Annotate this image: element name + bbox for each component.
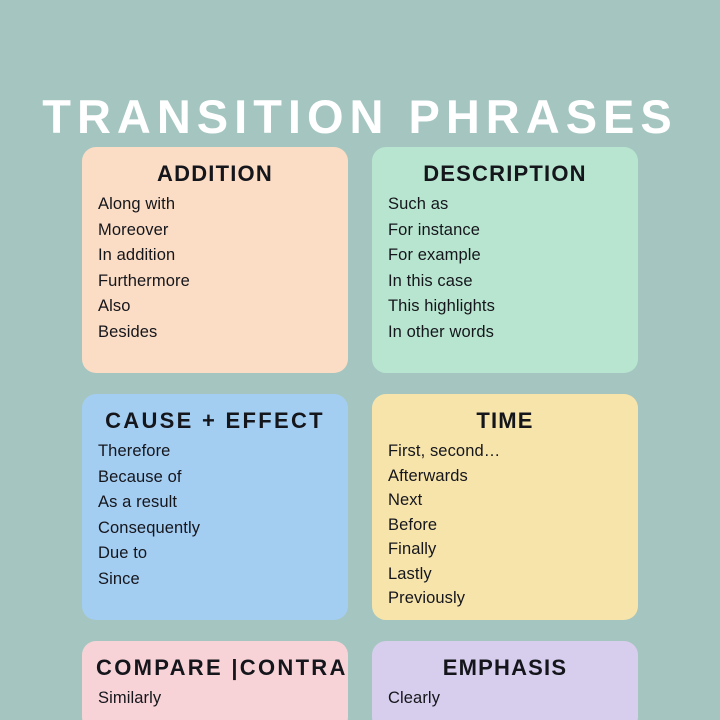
- list-item: Besides: [98, 320, 334, 346]
- list-item: Also: [98, 294, 334, 320]
- list-item: This highlights: [388, 294, 624, 320]
- list-item: In other words: [388, 320, 624, 346]
- list-item: Since: [98, 567, 334, 593]
- list-item: Lastly: [388, 562, 624, 587]
- list-item: Similarly: [98, 686, 334, 712]
- list-item: Due to: [98, 541, 334, 567]
- list-item: Afterwards: [388, 464, 624, 489]
- card-addition: ADDITION Along with Moreover In addition…: [82, 147, 348, 373]
- card-emphasis-title: EMPHASIS: [372, 655, 638, 680]
- card-time: TIME First, second… Afterwards Next Befo…: [372, 394, 638, 620]
- card-description: DESCRIPTION Such as For instance For exa…: [372, 147, 638, 373]
- list-item: Moreover: [98, 218, 334, 244]
- list-item: In this case: [388, 269, 624, 295]
- list-item: Such as: [388, 192, 624, 218]
- page-title: TRANSITION PHRASES: [0, 93, 720, 140]
- card-emphasis-list: Clearly: [372, 686, 638, 712]
- card-cause-effect: CAUSE + EFFECT Therefore Because of As a…: [82, 394, 348, 620]
- list-item: Before: [388, 513, 624, 538]
- list-item: For example: [388, 243, 624, 269]
- list-item: Previously: [388, 586, 624, 611]
- list-item: Because of: [98, 465, 334, 491]
- transition-phrases-poster: TRANSITION PHRASES ADDITION Along with M…: [0, 0, 720, 720]
- list-item: Finally: [388, 537, 624, 562]
- card-grid: ADDITION Along with Moreover In addition…: [82, 147, 640, 720]
- list-item: First, second…: [388, 439, 624, 464]
- card-compare-contrast-list: Similarly: [82, 686, 348, 712]
- card-description-title: DESCRIPTION: [372, 161, 638, 186]
- list-item: As a result: [98, 490, 334, 516]
- card-description-list: Such as For instance For example In this…: [372, 192, 638, 345]
- list-item: Therefore: [98, 439, 334, 465]
- card-compare-contrast-title: COMPARE |CONTRAST: [82, 655, 348, 680]
- list-item: For instance: [388, 218, 624, 244]
- card-cause-effect-list: Therefore Because of As a result Consequ…: [82, 439, 348, 592]
- list-item: Furthermore: [98, 269, 334, 295]
- card-time-list: First, second… Afterwards Next Before Fi…: [372, 439, 638, 611]
- list-item: Along with: [98, 192, 334, 218]
- card-compare-contrast: COMPARE |CONTRAST Similarly: [82, 641, 348, 720]
- list-item: In addition: [98, 243, 334, 269]
- card-addition-list: Along with Moreover In addition Furtherm…: [82, 192, 348, 345]
- list-item: Clearly: [388, 686, 624, 712]
- list-item: Next: [388, 488, 624, 513]
- card-emphasis: EMPHASIS Clearly: [372, 641, 638, 720]
- card-time-title: TIME: [372, 408, 638, 433]
- card-cause-effect-title: CAUSE + EFFECT: [82, 408, 348, 433]
- card-addition-title: ADDITION: [82, 161, 348, 186]
- list-item: Consequently: [98, 516, 334, 542]
